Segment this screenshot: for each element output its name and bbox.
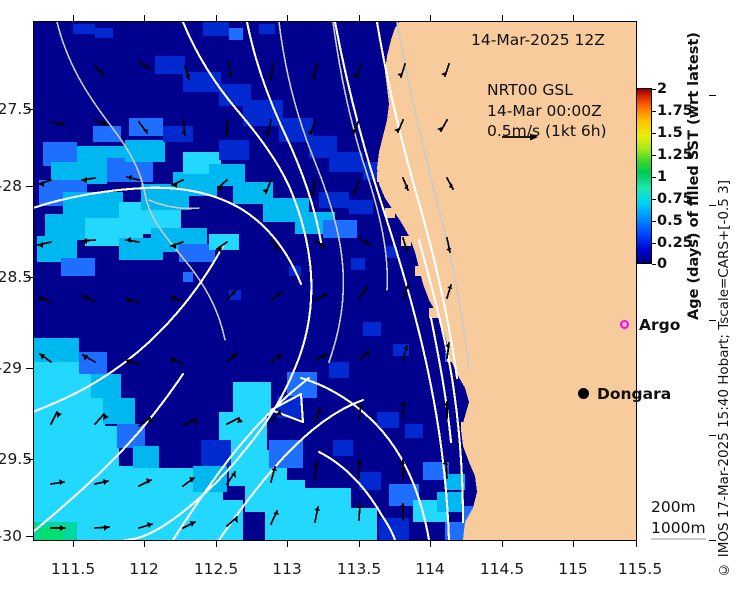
x-tick-top	[73, 15, 74, 21]
colorbar-tick	[652, 155, 656, 156]
x-tick-top	[502, 15, 503, 21]
x-tick-label: 115	[558, 560, 588, 578]
x-tick	[359, 541, 360, 547]
x-tick	[287, 541, 288, 547]
x-tick	[573, 541, 574, 547]
right-axis-tick	[709, 95, 716, 96]
right-axis-tick	[709, 205, 716, 206]
plot-border-top	[33, 21, 637, 22]
colorbar-tick-label: 1	[657, 169, 667, 185]
colorbar-tick	[652, 177, 656, 178]
colorbar-tick-label: 0	[657, 256, 667, 272]
reference-vector-arrow	[500, 130, 540, 144]
isobath-200m-label: 200m	[651, 498, 696, 519]
colorbar-tick-label: 0.5	[657, 213, 683, 229]
argo-legend-label: Argo	[639, 316, 680, 334]
colorbar-tick	[652, 199, 656, 200]
x-tick-label: 114.5	[480, 560, 524, 578]
y-tick-label: -28	[0, 177, 22, 195]
isobath-1000m-label: 1000m	[651, 519, 706, 540]
x-tick	[430, 541, 431, 547]
colorbar-tick	[652, 221, 656, 222]
colorbar-title: Age (days) of filled SST (wrt latest)	[686, 40, 708, 320]
y-tick	[26, 536, 33, 537]
x-tick	[502, 541, 503, 547]
x-tick-top	[216, 15, 217, 21]
x-tick-top	[359, 15, 360, 21]
x-tick-top	[573, 15, 574, 21]
x-tick-top	[144, 15, 145, 21]
y-tick-label: -30	[0, 527, 22, 545]
colorbar-tick	[652, 243, 656, 244]
dongara-city-label: Dongara	[597, 385, 671, 403]
x-tick	[73, 541, 74, 547]
x-tick-label: 112	[129, 560, 159, 578]
x-tick	[144, 541, 145, 547]
product-time: 14-Mar 00:00Z	[487, 101, 607, 122]
dongara-marker	[578, 388, 589, 399]
x-tick	[216, 541, 217, 547]
colorbar-tick	[652, 264, 656, 265]
x-tick-label: 115.5	[618, 560, 662, 578]
plot-border-bottom	[33, 540, 637, 541]
x-tick-label: 111.5	[51, 560, 95, 578]
x-tick-label: 112.5	[194, 560, 238, 578]
credit-text: © IMOS 17-Mar-2025 15:40 Hobart; Tscale=…	[716, 180, 732, 578]
colorbar-tick-label: 1.5	[657, 125, 683, 141]
x-tick	[636, 541, 637, 547]
colorbar-tick-label: 2	[657, 81, 667, 97]
x-tick-top	[430, 15, 431, 21]
y-tick-label: -29.5	[0, 450, 22, 468]
colorbar-tick	[652, 89, 656, 90]
right-axis-tick	[709, 435, 716, 436]
colorbar	[636, 88, 652, 264]
y-tick	[26, 186, 33, 187]
y-tick	[26, 368, 33, 369]
colorbar-tick	[652, 133, 656, 134]
x-tick-label: 113.5	[337, 560, 381, 578]
x-tick-label: 114	[415, 560, 445, 578]
right-axis-tick	[709, 320, 716, 321]
product-name: NRT00 GSL	[487, 80, 607, 101]
right-axis-tick	[709, 540, 716, 541]
colorbar-tick	[652, 111, 656, 112]
plot-border-left	[33, 21, 34, 541]
x-tick-label: 113	[272, 560, 302, 578]
isobath-legend: 200m 1000m	[651, 498, 706, 540]
y-tick-label: -27.5	[0, 100, 22, 118]
date-stamp: 14-Mar-2025 12Z	[471, 31, 605, 49]
x-tick-top	[287, 15, 288, 21]
y-tick-label: -29	[0, 359, 22, 377]
argo-marker	[620, 320, 629, 329]
figure-canvas: 14-Mar-2025 12Z NRT00 GSL 14-Mar 00:00Z …	[0, 0, 740, 592]
y-tick-label: -28.5	[0, 268, 22, 286]
